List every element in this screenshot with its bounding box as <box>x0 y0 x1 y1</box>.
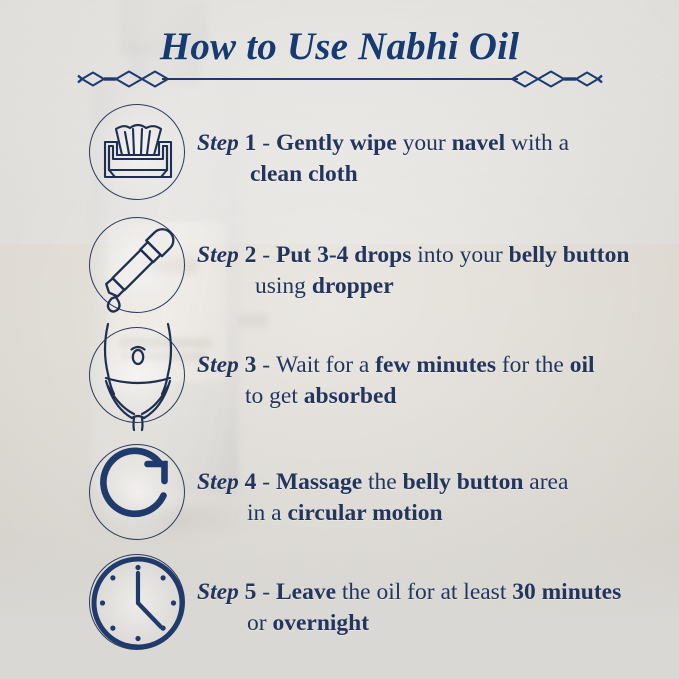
page-title: How to Use Nabhi Oil <box>0 25 679 69</box>
step-3-line1-part2: few minutes <box>375 352 496 378</box>
step-4-label: Step <box>197 469 239 495</box>
step-2-line2: using dropper <box>197 271 663 302</box>
step-1-icon-badge <box>89 104 185 200</box>
step-1-line1-part3: navel <box>452 130 506 156</box>
belly-navel-icon <box>84 322 192 430</box>
dropper-icon <box>84 212 192 320</box>
circular-rotate-icon <box>84 439 192 547</box>
step-3-line1-part4: oil <box>570 352 595 378</box>
step-3-line2-part2: absorbed <box>304 383 397 409</box>
step-1-line2: clean cloth <box>197 159 663 190</box>
step-2-line1-part1: Put 3-4 drops <box>276 242 411 268</box>
clock-icon <box>84 549 192 657</box>
step-5-icon-badge <box>89 554 185 650</box>
step-5-number: 5 <box>245 579 257 605</box>
step-2-label: Step <box>197 242 239 268</box>
step-1-line2-part1: clean cloth <box>250 161 358 187</box>
step-2-line1-part3: belly button <box>509 242 630 268</box>
step-1-line1-part2: your <box>397 130 452 156</box>
step-4-text: Step 4 - Massage the belly button area i… <box>197 467 663 529</box>
step-3-number: 3 <box>245 352 257 378</box>
step-4-line2-part2: circular motion <box>287 500 442 526</box>
tissue-box-icon <box>84 99 192 207</box>
step-4-icon-badge <box>89 444 185 540</box>
step-3-icon-badge <box>89 327 185 423</box>
list-item: Step 4 - Massage the belly button area i… <box>0 438 679 551</box>
step-3-line1-part3: for the <box>496 352 570 378</box>
step-5-line1-part2: the oil for at least <box>336 579 512 605</box>
steps-list: Step 1 - Gently wipe your navel with a c… <box>0 99 679 661</box>
step-3-line2: to get absorbed <box>197 381 663 412</box>
step-5-label: Step <box>197 579 239 605</box>
step-2-icon-badge <box>89 217 185 313</box>
step-1-line1-part1: Gently wipe <box>276 130 397 156</box>
step-2-line2-part2: dropper <box>312 273 394 299</box>
step-1-text: Step 1 - Gently wipe your navel with a c… <box>197 128 663 190</box>
step-1-number: 1 <box>245 130 257 156</box>
step-5-dash: - <box>262 579 270 605</box>
step-2-line1-part2: into your <box>411 242 508 268</box>
step-5-line1-part1: Leave <box>276 579 336 605</box>
step-4-line1-part1: Massage <box>276 469 362 495</box>
step-2-line2-part1: using <box>255 273 312 299</box>
step-2-dash: - <box>262 242 270 268</box>
step-5-line2: or overnight <box>197 608 663 639</box>
step-4-line2: in a circular motion <box>197 498 663 529</box>
step-1-label: Step <box>197 130 239 156</box>
step-5-line2-part1: or <box>247 610 272 636</box>
step-5-line1-part3: 30 minutes <box>512 579 621 605</box>
step-3-line1-part1: Wait for a <box>276 352 375 378</box>
step-4-dash: - <box>262 469 270 495</box>
list-item: Step 5 - Leave the oil for at least 30 m… <box>0 551 679 661</box>
step-1-dash: - <box>262 130 270 156</box>
step-1-line1-part4: with a <box>505 130 569 156</box>
list-item: Step 3 - Wait for a few minutes for the … <box>0 325 679 438</box>
step-2-text: Step 2 - Put 3-4 drops into your belly b… <box>197 240 663 302</box>
step-4-line1-part2: the <box>362 469 402 495</box>
step-2-number: 2 <box>245 242 257 268</box>
step-5-line2-part2: overnight <box>272 610 369 636</box>
list-item: Step 1 - Gently wipe your navel with a c… <box>0 99 679 212</box>
step-4-line1-part3: belly button <box>403 469 524 495</box>
list-item: Step 2 - Put 3-4 drops into your belly b… <box>0 212 679 325</box>
step-3-dash: - <box>262 352 270 378</box>
step-4-number: 4 <box>245 469 257 495</box>
step-3-line2-part1: to get <box>245 383 304 409</box>
step-3-label: Step <box>197 352 239 378</box>
step-5-text: Step 5 - Leave the oil for at least 30 m… <box>197 577 663 639</box>
step-4-line1-part4: area <box>523 469 568 495</box>
ornamental-diamond-divider <box>76 66 604 92</box>
step-3-text: Step 3 - Wait for a few minutes for the … <box>197 350 663 412</box>
infographic-page: How to Use Nabhi Oil <box>0 0 679 679</box>
step-4-line2-part1: in a <box>247 500 287 526</box>
